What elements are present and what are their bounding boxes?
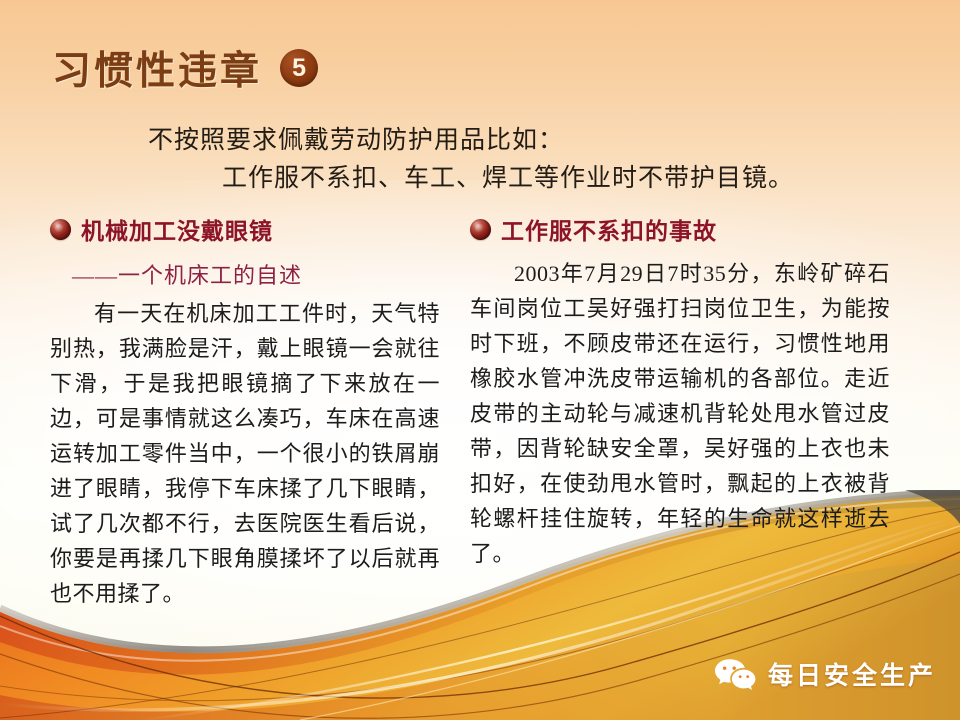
left-body-text: 有一天在机床加工工件时，天气特别热，我满脸是汗，戴上眼镜一会就往下滑，于是我把眼… — [50, 296, 440, 611]
left-section-header: 机械加工没戴眼镜 — [50, 212, 440, 246]
right-column: 工作服不系扣的事故 2003年7月29日7时35分，东岭矿碎石车间岗位工吴好强打… — [470, 212, 890, 571]
wechat-icon — [714, 658, 756, 690]
lead-line-1: 不按照要求佩戴劳动防护用品比如： — [148, 127, 564, 154]
right-body-text: 2003年7月29日7时35分，东岭矿碎石车间岗位工吴好强打扫岗位卫生，为能按时… — [470, 256, 890, 571]
wechat-watermark: 每日安全生产 — [714, 656, 936, 692]
page-title: 习惯性违章 — [52, 40, 262, 96]
section-number-badge: 5 — [280, 49, 318, 87]
right-section-title: 工作服不系扣的事故 — [501, 212, 717, 246]
red-orb-bullet-icon — [50, 219, 71, 240]
right-section-header: 工作服不系扣的事故 — [470, 212, 890, 246]
slide-canvas: 习惯性违章 5 不按照要求佩戴劳动防护用品比如： 工作服不系扣、车工、焊工等作业… — [0, 0, 960, 720]
left-section-subtitle: ——一个机床工的自述 — [72, 258, 440, 290]
red-orb-bullet-icon — [470, 219, 491, 240]
slide-title-row: 习惯性违章 5 — [52, 40, 318, 96]
lead-paragraph: 不按照要求佩戴劳动防护用品比如： 工作服不系扣、车工、焊工等作业时不带护目镜。 — [148, 122, 938, 198]
left-section-title: 机械加工没戴眼镜 — [81, 212, 273, 246]
wechat-account-name: 每日安全生产 — [768, 656, 936, 692]
lead-line-2: 工作服不系扣、车工、焊工等作业时不带护目镜。 — [148, 160, 938, 198]
left-column: 机械加工没戴眼镜 ——一个机床工的自述 有一天在机床加工工件时，天气特别热，我满… — [50, 212, 440, 611]
